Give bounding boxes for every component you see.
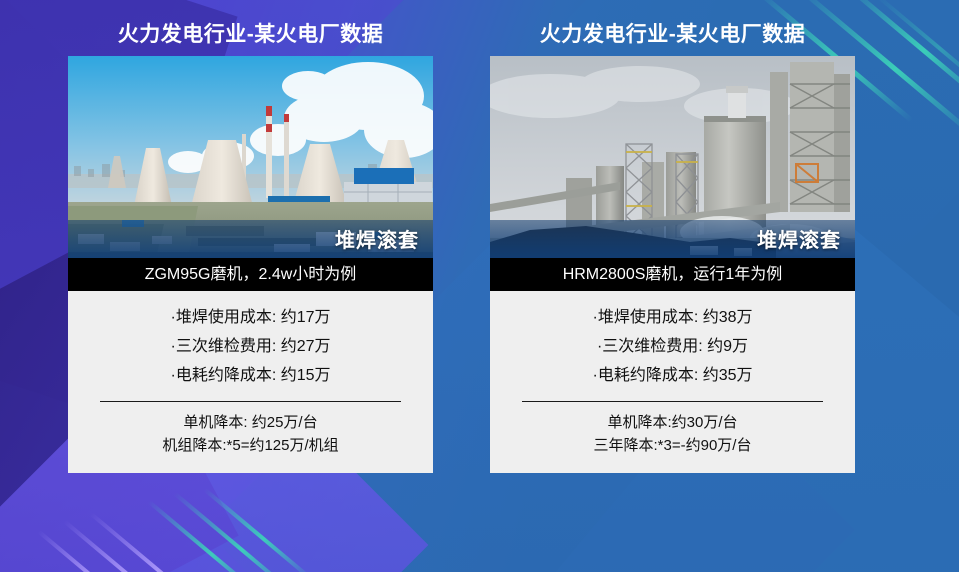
photo-overlay-label: 堆焊滚套 [757,224,841,253]
card-photo: 堆焊滚套 [68,56,433,258]
section-divider [100,401,401,402]
list-item: 机组降本:*5=约125万/机组 [68,434,433,457]
card-title: 火力发电行业-某火电厂数据 [68,18,433,56]
list-item: ·三次维检费用: 约9万 [490,332,855,361]
card-detail-panel: ·堆焊使用成本: 约17万 ·三次维检费用: 约27万 ·电耗约降成本: 约15… [68,291,433,473]
list-item: ·电耗约降成本: 约35万 [490,361,855,390]
cost-bullet-list: ·堆焊使用成本: 约17万 ·三次维检费用: 约27万 ·电耗约降成本: 约15… [68,303,433,390]
section-divider [522,401,823,402]
card-title: 火力发电行业-某火电厂数据 [490,18,855,56]
cost-bullet-list: ·堆焊使用成本: 约38万 ·三次维检费用: 约9万 ·电耗约降成本: 约35万 [490,303,855,390]
savings-summary-list: 单机降本:约30万/台 三年降本:*3=-约90万/台 [490,411,855,457]
list-item: ·堆焊使用成本: 约17万 [68,303,433,332]
photo-overlay-label: 堆焊滚套 [335,224,419,253]
card-detail-panel: ·堆焊使用成本: 约38万 ·三次维检费用: 约9万 ·电耗约降成本: 约35万… [490,291,855,473]
slide-canvas: 火力发电行业-某火电厂数据 [0,0,959,572]
list-item: ·电耗约降成本: 约15万 [68,361,433,390]
savings-summary-list: 单机降本: 约25万/台 机组降本:*5=约125万/机组 [68,411,433,457]
list-item: 单机降本:约30万/台 [490,411,855,434]
list-item: ·堆焊使用成本: 约38万 [490,303,855,332]
list-item: 三年降本:*3=-约90万/台 [490,434,855,457]
card-thermal-power-hrm2800s: 火力发电行业-某火电厂数据 [490,18,855,473]
card-subtitle-bar: ZGM95G磨机，2.4w小时为例 [68,258,433,291]
list-item: ·三次维检费用: 约27万 [68,332,433,361]
card-subtitle-bar: HRM2800S磨机，运行1年为例 [490,258,855,291]
list-item: 单机降本: 约25万/台 [68,411,433,434]
card-thermal-power-zgm95g: 火力发电行业-某火电厂数据 [68,18,433,473]
card-photo: 堆焊滚套 [490,56,855,258]
